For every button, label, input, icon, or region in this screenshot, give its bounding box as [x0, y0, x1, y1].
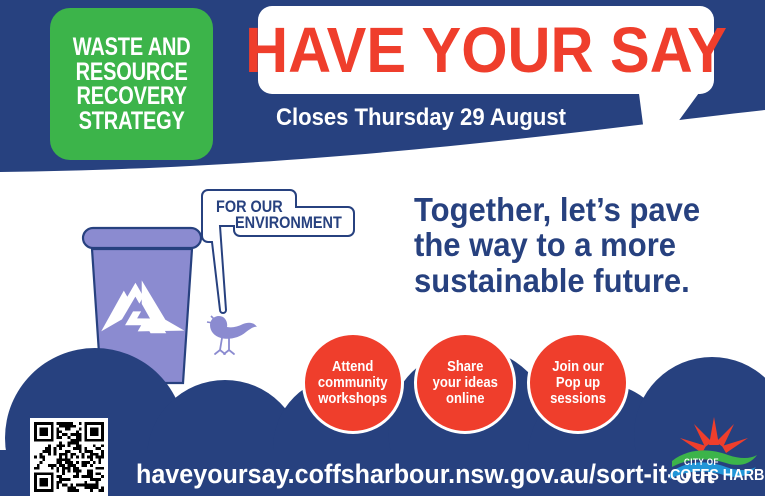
- strategy-badge-text: WASTE AND RESOURCE RECOVERY STRATEGY: [73, 35, 191, 133]
- campaign-url[interactable]: haveyoursay.coffsharbour.nsw.gov.au/sort…: [136, 459, 715, 490]
- action-circle-share-ideas[interactable]: Share your ideas online: [414, 332, 516, 434]
- headline-bubble: HAVE YOUR SAY: [258, 6, 714, 94]
- closing-date: Closes Thursday 29 August: [276, 104, 566, 132]
- headline-title: HAVE YOUR SAY: [245, 18, 727, 82]
- logo-council-name: COFFS HARBOUR: [670, 467, 765, 485]
- headline-bubble-tail: [600, 86, 710, 168]
- strategy-badge: WASTE AND RESOURCE RECOVERY STRATEGY: [50, 8, 213, 160]
- action-circle-share-ideas-label: Share your ideas online: [432, 359, 497, 408]
- action-circle-workshops[interactable]: Attend community workshops: [302, 332, 404, 434]
- action-circle-workshops-label: Attend community workshops: [318, 359, 388, 408]
- environment-bubble-line2: ENVIRONMENT: [235, 213, 342, 233]
- sunburst-icon: [680, 417, 748, 453]
- poster-canvas: WASTE AND RESOURCE RECOVERY STRATEGY HAV…: [0, 0, 765, 496]
- tagline: Together, let’s pave the way to a more s…: [414, 192, 700, 298]
- qr-code-icon[interactable]: [30, 418, 108, 496]
- logo-city-of-text: CITY OF: [684, 457, 719, 467]
- action-circle-pop-up[interactable]: Join our Pop up sessions: [527, 332, 629, 434]
- action-circle-pop-up-label: Join our Pop up sessions: [550, 359, 606, 408]
